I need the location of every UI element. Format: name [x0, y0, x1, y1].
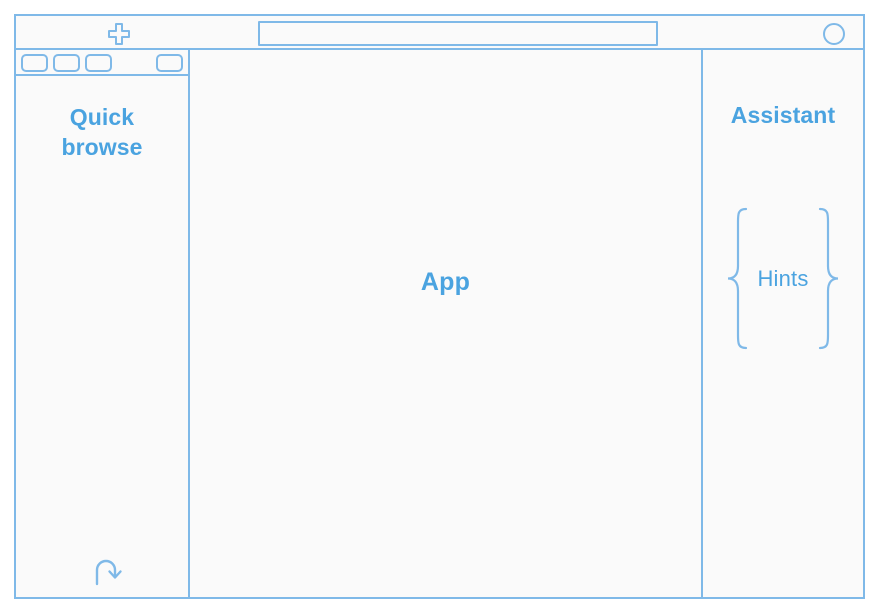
assistant-title: Assistant [703, 102, 863, 129]
sidebar-tab-bar [16, 50, 188, 76]
main-app-pane: App [190, 50, 703, 597]
brace-right-icon [816, 206, 840, 351]
u-turn-arrow-icon [90, 555, 124, 587]
wireframe-window: Quick browse App Assistant [14, 14, 865, 599]
add-button[interactable] [98, 19, 140, 49]
plus-icon [107, 22, 131, 46]
sidebar-item-tab-chip-3[interactable] [85, 54, 112, 72]
back-button[interactable] [90, 555, 124, 587]
assistant-pane: Assistant Hints [703, 50, 863, 597]
top-bar [14, 14, 865, 50]
page-title: App [421, 268, 470, 297]
search-input[interactable] [258, 21, 658, 46]
sidebar-title: Quick browse [16, 102, 188, 163]
hints-block: Hints [703, 206, 863, 351]
sidebar-item-tab-chip-1[interactable] [21, 54, 48, 72]
sidebar-item-tab-chip-4[interactable] [156, 54, 183, 72]
avatar[interactable] [823, 23, 845, 45]
sidebar-title-line-2: browse [16, 132, 188, 162]
content-panes: Quick browse App Assistant [14, 50, 865, 599]
hints-label: Hints [750, 266, 815, 292]
sidebar-title-line-1: Quick [16, 102, 188, 132]
sidebar-quick-browse: Quick browse [16, 50, 190, 597]
brace-left-icon [726, 206, 750, 351]
sidebar-item-tab-chip-2[interactable] [53, 54, 80, 72]
